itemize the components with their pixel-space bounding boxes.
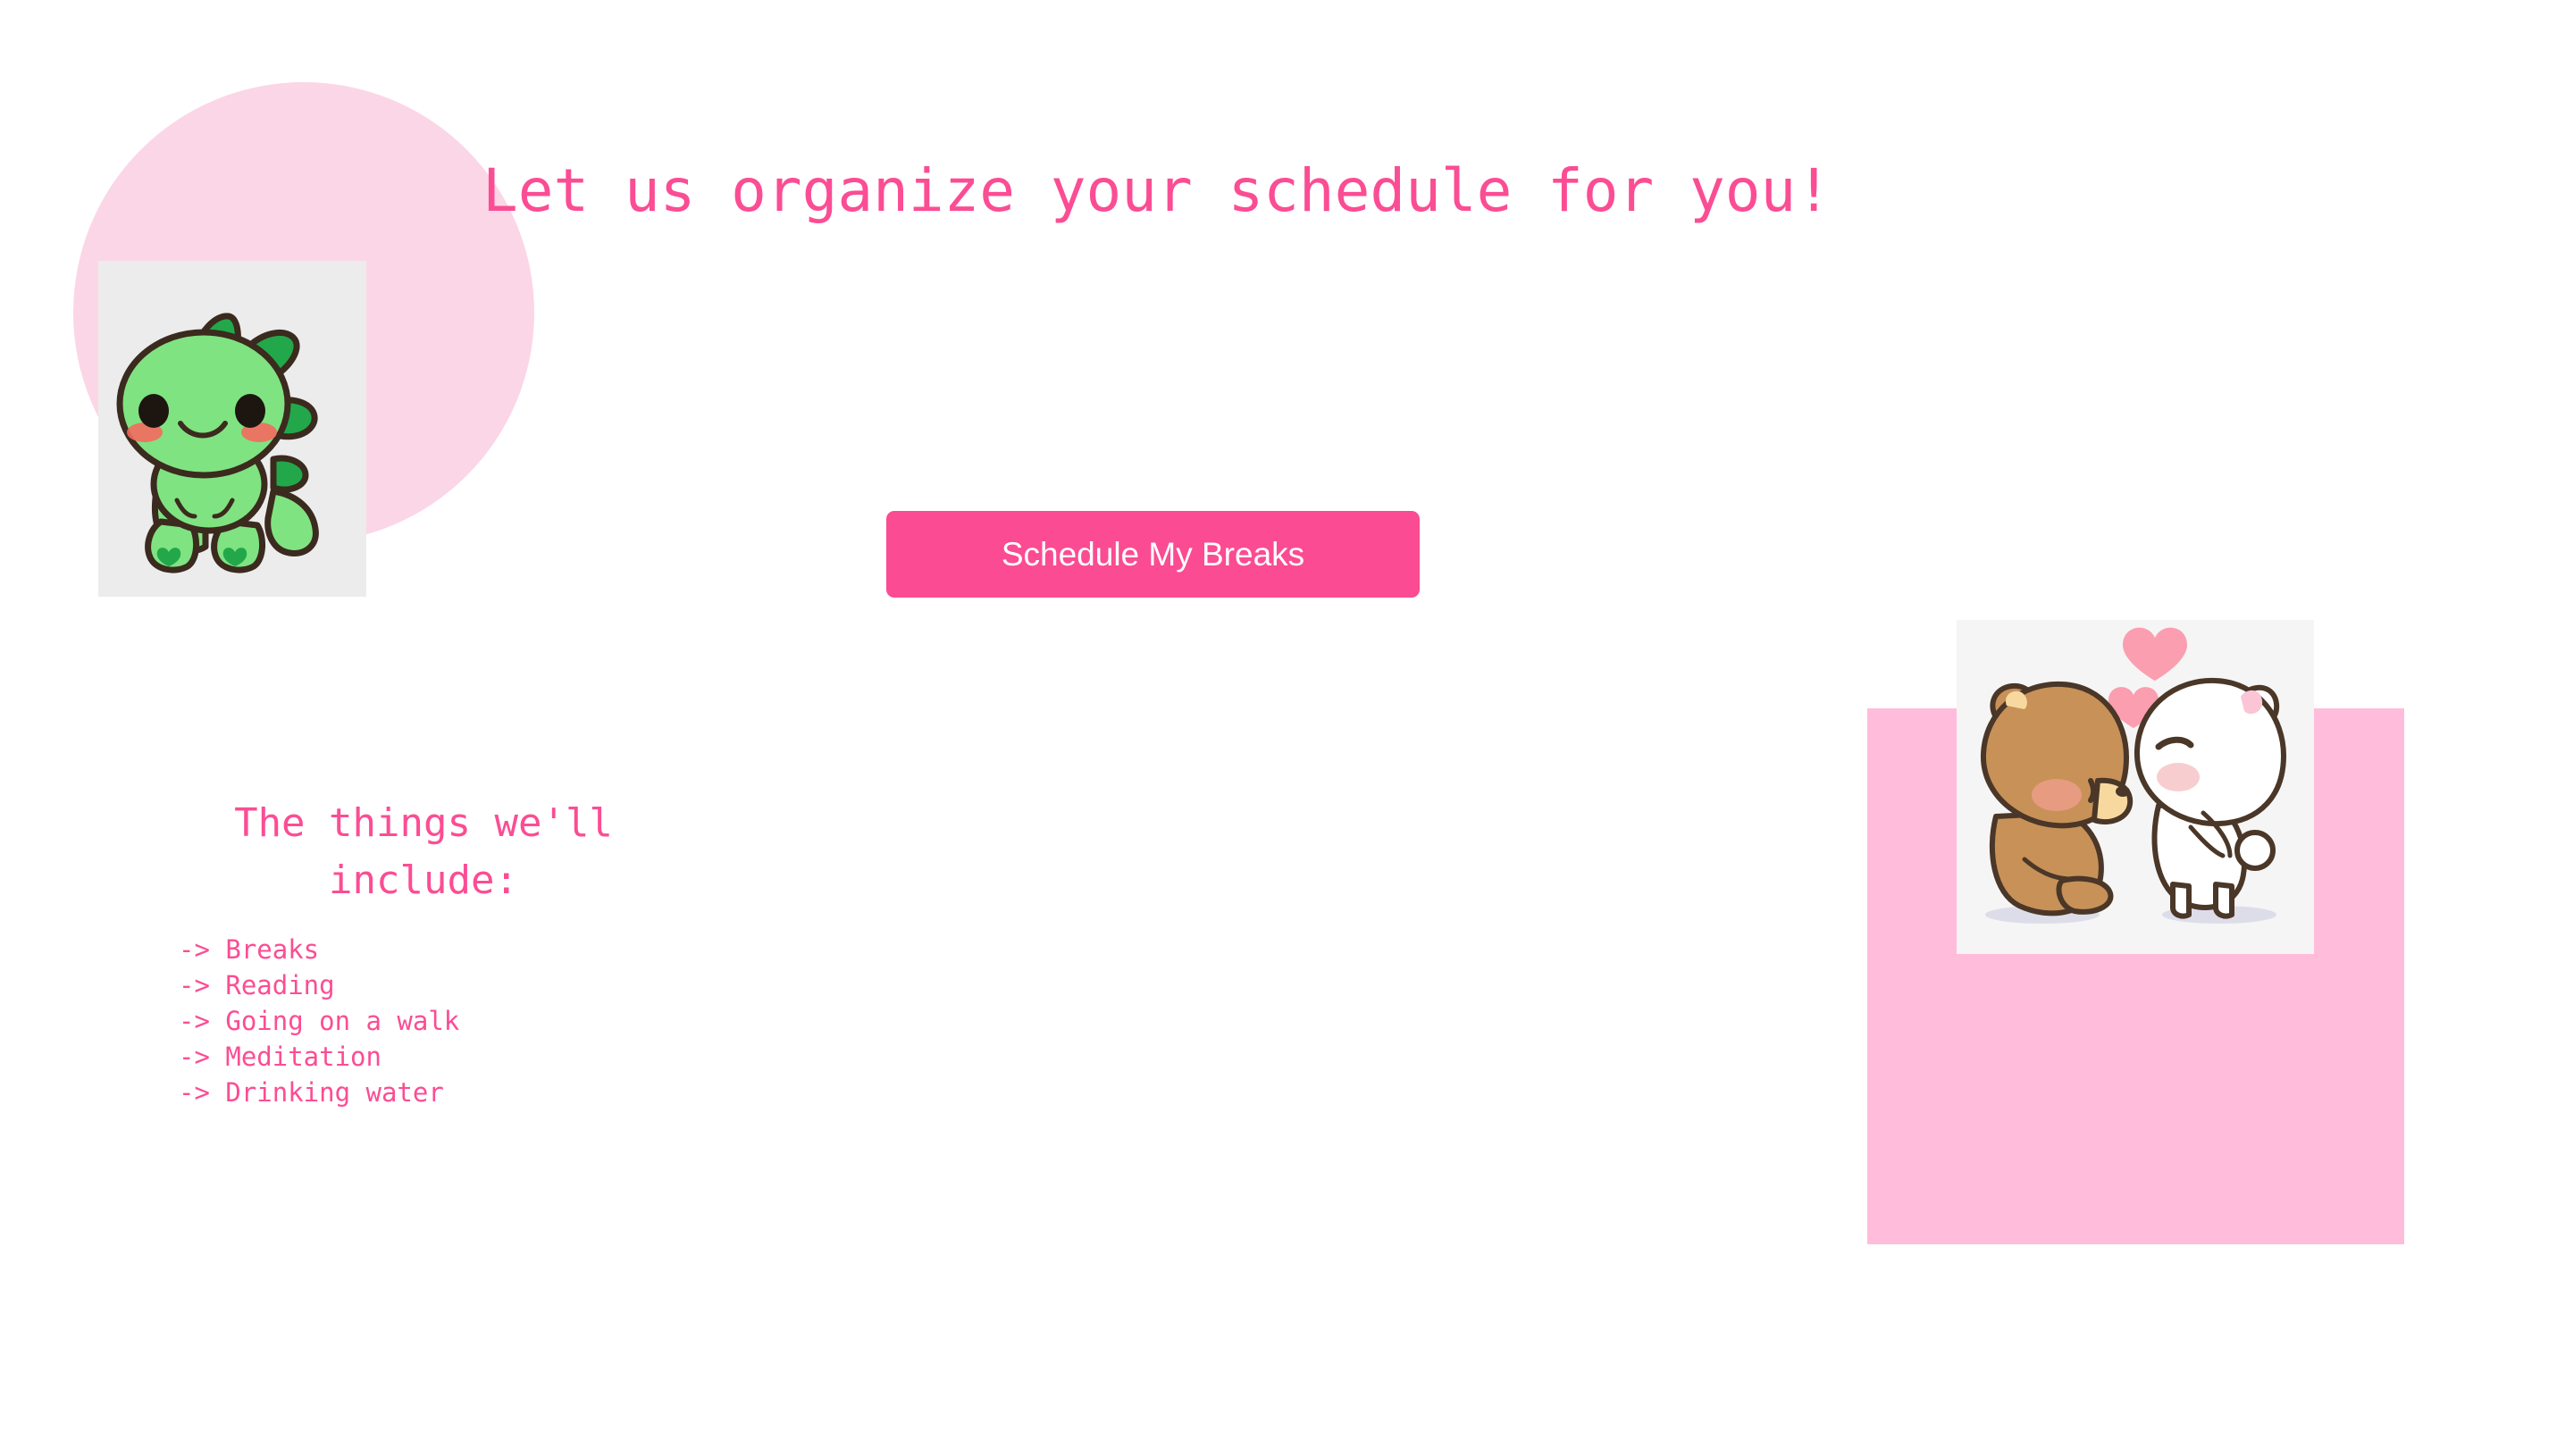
include-section-title: The things we'll include: <box>179 795 668 909</box>
include-list: -> Breaks -> Reading -> Going on a walk … <box>179 932 668 1110</box>
list-item: -> Reading <box>179 967 668 1003</box>
include-section: The things we'll include: -> Breaks -> R… <box>179 795 668 1110</box>
bears-image <box>1957 620 2314 954</box>
page-canvas: Let us organize your schedule for you! S… <box>0 0 2557 1456</box>
schedule-my-breaks-button[interactable]: Schedule My Breaks <box>886 511 1420 598</box>
list-item: -> Meditation <box>179 1039 668 1075</box>
list-item: -> Drinking water <box>179 1075 668 1110</box>
dinosaur-image <box>98 261 366 597</box>
list-item: -> Breaks <box>179 932 668 967</box>
page-title: Let us organize your schedule for you! <box>482 159 2171 224</box>
list-item: -> Going on a walk <box>179 1003 668 1039</box>
